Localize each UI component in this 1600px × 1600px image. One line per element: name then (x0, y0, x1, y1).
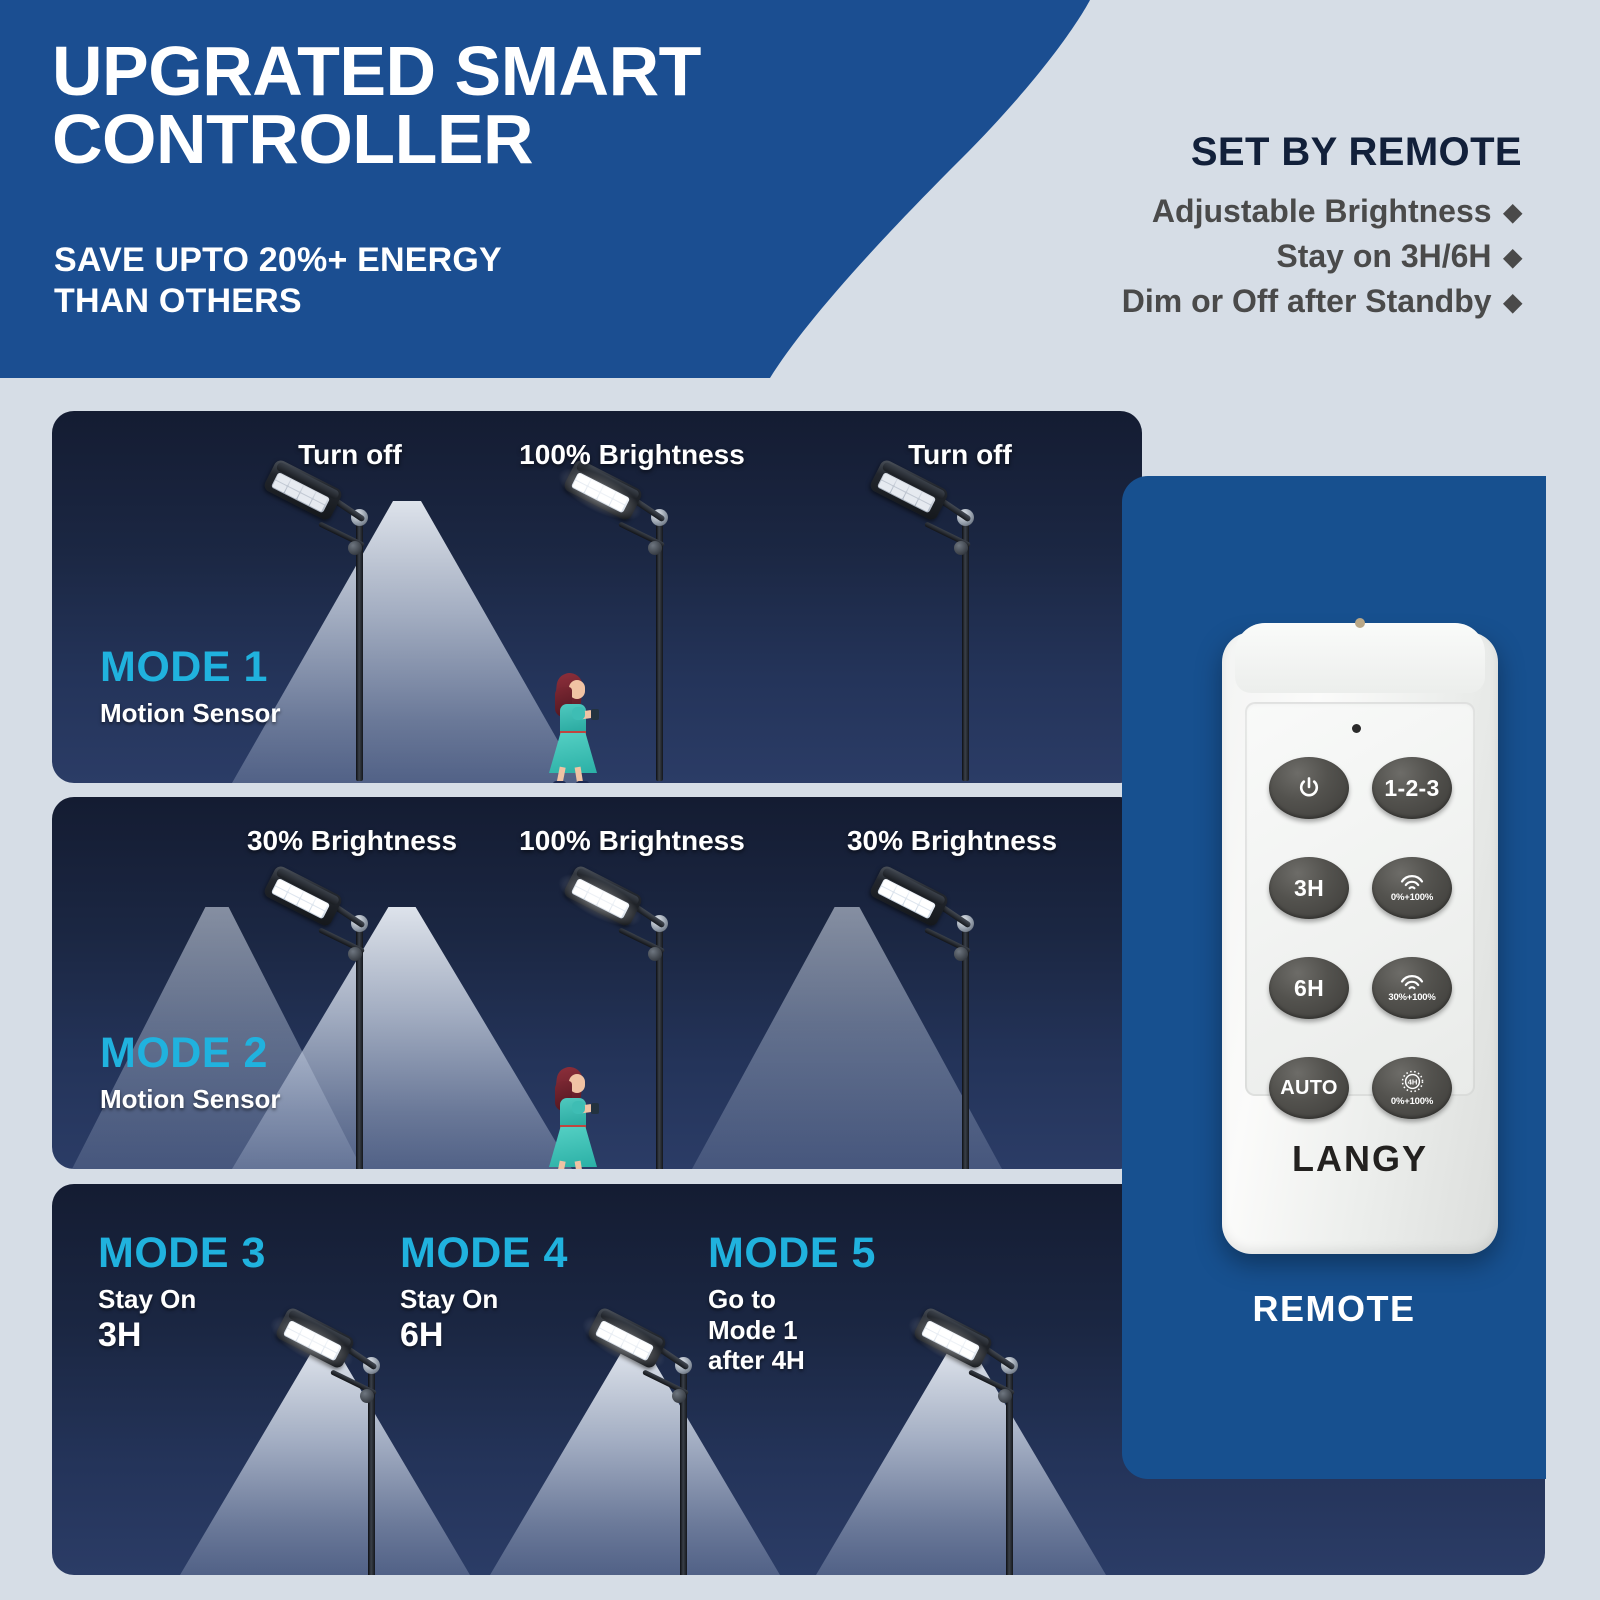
mode-3-label-block: MODE 3 Stay On 3H (98, 1232, 266, 1355)
mode-4-title: MODE 4 (400, 1232, 568, 1275)
mode-2-subtitle: Motion Sensor (100, 1084, 281, 1115)
lamp-pole (962, 517, 969, 781)
street-lamp-mode-4 (592, 1329, 712, 1575)
auto-button[interactable]: AUTO (1269, 1057, 1349, 1119)
timer-4h-sublabel: 0%+100% (1391, 1097, 1433, 1107)
page-title-line2: CONTROLLER (52, 106, 952, 174)
diamond-bullet-icon: ◆ (1504, 241, 1522, 275)
page-subtitle-line2: THAN OTHERS (54, 281, 694, 322)
svg-text:4H: 4H (1407, 1078, 1417, 1087)
page-title: UPGRATED SMART CONTROLLER (52, 38, 952, 174)
status-led-icon (1352, 724, 1361, 733)
mode-3-line2: 3H (98, 1315, 266, 1355)
mode-5-detail: Go to Mode 1 after 4H (708, 1284, 876, 1376)
lamp-head-icon (586, 1306, 667, 1370)
lamp-joint (348, 541, 362, 555)
mode-4-line2: 6H (400, 1315, 568, 1355)
lamp-head-icon (274, 1306, 355, 1370)
street-lamp-right (874, 481, 994, 781)
remote-control-device: 1-2-3 3H 0%+100% 6H (1222, 632, 1498, 1254)
mode-5-label-block: MODE 5 Go to Mode 1 after 4H (708, 1232, 876, 1376)
mode-2-title: MODE 2 (100, 1032, 281, 1075)
timer-4h-button[interactable]: 4H 0%+100% (1372, 1057, 1452, 1119)
feature-label-2: Stay on 3H/6H (1276, 238, 1491, 274)
lamp-pole (356, 517, 363, 781)
street-lamp-left (268, 481, 388, 781)
power-icon (1296, 775, 1322, 801)
mode-3-detail: Stay On 3H (98, 1284, 266, 1355)
diamond-bullet-icon: ◆ (1504, 286, 1522, 320)
page-subtitle-line1: SAVE UPTO 20%+ ENERGY (54, 240, 694, 281)
lamp-head-icon (912, 1306, 993, 1370)
mode-5-line1: Go to (708, 1284, 876, 1315)
remote-brand-logo: LANGY (1222, 1138, 1498, 1180)
auto-label: AUTO (1280, 1078, 1338, 1098)
diamond-bullet-icon: ◆ (1504, 196, 1522, 230)
mode-1-subtitle: Motion Sensor (100, 698, 281, 729)
page-title-line1: UPGRATED SMART (52, 38, 952, 106)
lamp-head-icon (868, 864, 949, 928)
lamp-state-label-center: 100% Brightness (472, 439, 792, 471)
mode-1-label-block: MODE 1 Motion Sensor (100, 646, 281, 729)
timer-4h-icon: 4H (1400, 1069, 1425, 1094)
lamp-joint (954, 541, 968, 555)
mode-4-detail: Stay On 6H (400, 1284, 568, 1355)
lamp-state-label-right: 30% Brightness (792, 825, 1112, 857)
scene-123-button[interactable]: 1-2-3 (1372, 757, 1452, 819)
set-by-remote-block: SET BY REMOTE Adjustable Brightness◆ Sta… (1002, 130, 1522, 323)
infographic-canvas: UPGRATED SMART CONTROLLER SAVE UPTO 20%+… (0, 0, 1600, 1600)
mode-1-title: MODE 1 (100, 646, 281, 689)
stay-on-6h-button[interactable]: 6H (1269, 957, 1349, 1019)
remote-caption: REMOTE (1122, 1288, 1546, 1330)
stay-on-3h-label: 3H (1294, 877, 1324, 900)
feature-item-1: Adjustable Brightness◆ (1002, 189, 1522, 234)
motion-sensor-icon (1399, 873, 1425, 890)
mode-5-title: MODE 5 (708, 1232, 876, 1275)
sensor-30-100-sublabel: 30%+100% (1388, 993, 1435, 1003)
feature-item-2: Stay on 3H/6H◆ (1002, 234, 1522, 279)
power-button[interactable] (1269, 757, 1349, 819)
street-lamp-mode-5 (918, 1329, 1038, 1575)
stay-on-3h-button[interactable]: 3H (1269, 857, 1349, 919)
mode-4-label-block: MODE 4 Stay On 6H (400, 1232, 568, 1355)
mode-5-line3: after 4H (708, 1345, 876, 1376)
stay-on-6h-label: 6H (1294, 977, 1324, 1000)
sensor-30-100-button[interactable]: 30%+100% (1372, 957, 1452, 1019)
mode-2-panel: 30% Brightness 100% Brightness 30% Brigh… (52, 797, 1142, 1169)
sensor-0-100-button[interactable]: 0%+100% (1372, 857, 1452, 919)
page-subtitle: SAVE UPTO 20%+ ENERGY THAN OTHERS (54, 240, 694, 323)
mode-1-panel: Turn off 100% Brightness Turn off MODE 1… (52, 411, 1142, 783)
mode-3-title: MODE 3 (98, 1232, 266, 1275)
lamp-pole (656, 517, 663, 781)
mode-2-label-block: MODE 2 Motion Sensor (100, 1032, 281, 1115)
scene-123-label: 1-2-3 (1384, 777, 1439, 800)
mode-4-line1: Stay On (400, 1284, 498, 1314)
lamp-head-icon (262, 864, 343, 928)
walking-person-figure (536, 1065, 598, 1169)
mode-3-line1: Stay On (98, 1284, 196, 1314)
lamp-state-label-left: Turn off (242, 439, 458, 471)
lamp-state-label-center: 100% Brightness (472, 825, 792, 857)
motion-sensor-icon (1399, 973, 1425, 990)
street-lamp-left (268, 887, 388, 1169)
sensor-0-100-sublabel: 0%+100% (1391, 893, 1433, 903)
walking-person-figure (536, 671, 598, 781)
mode-5-line2: Mode 1 (708, 1315, 876, 1346)
mode-1-scene: Turn off 100% Brightness Turn off MODE 1… (52, 411, 1142, 783)
lamp-state-label-right: Turn off (852, 439, 1068, 471)
feature-item-3: Dim or Off after Standby◆ (1002, 279, 1522, 324)
street-lamp-right (874, 887, 994, 1169)
set-by-remote-heading: SET BY REMOTE (1002, 130, 1522, 175)
feature-label-1: Adjustable Brightness (1152, 193, 1492, 229)
mode-2-scene: 30% Brightness 100% Brightness 30% Brigh… (52, 797, 1142, 1169)
lamp-state-label-left: 30% Brightness (192, 825, 512, 857)
remote-top-cap (1235, 623, 1485, 693)
feature-label-3: Dim or Off after Standby (1122, 283, 1492, 319)
lamp-head-icon (562, 864, 643, 928)
ir-emitter-icon (1355, 618, 1365, 628)
street-lamp-mode-3 (280, 1329, 400, 1575)
lamp-joint (648, 541, 662, 555)
